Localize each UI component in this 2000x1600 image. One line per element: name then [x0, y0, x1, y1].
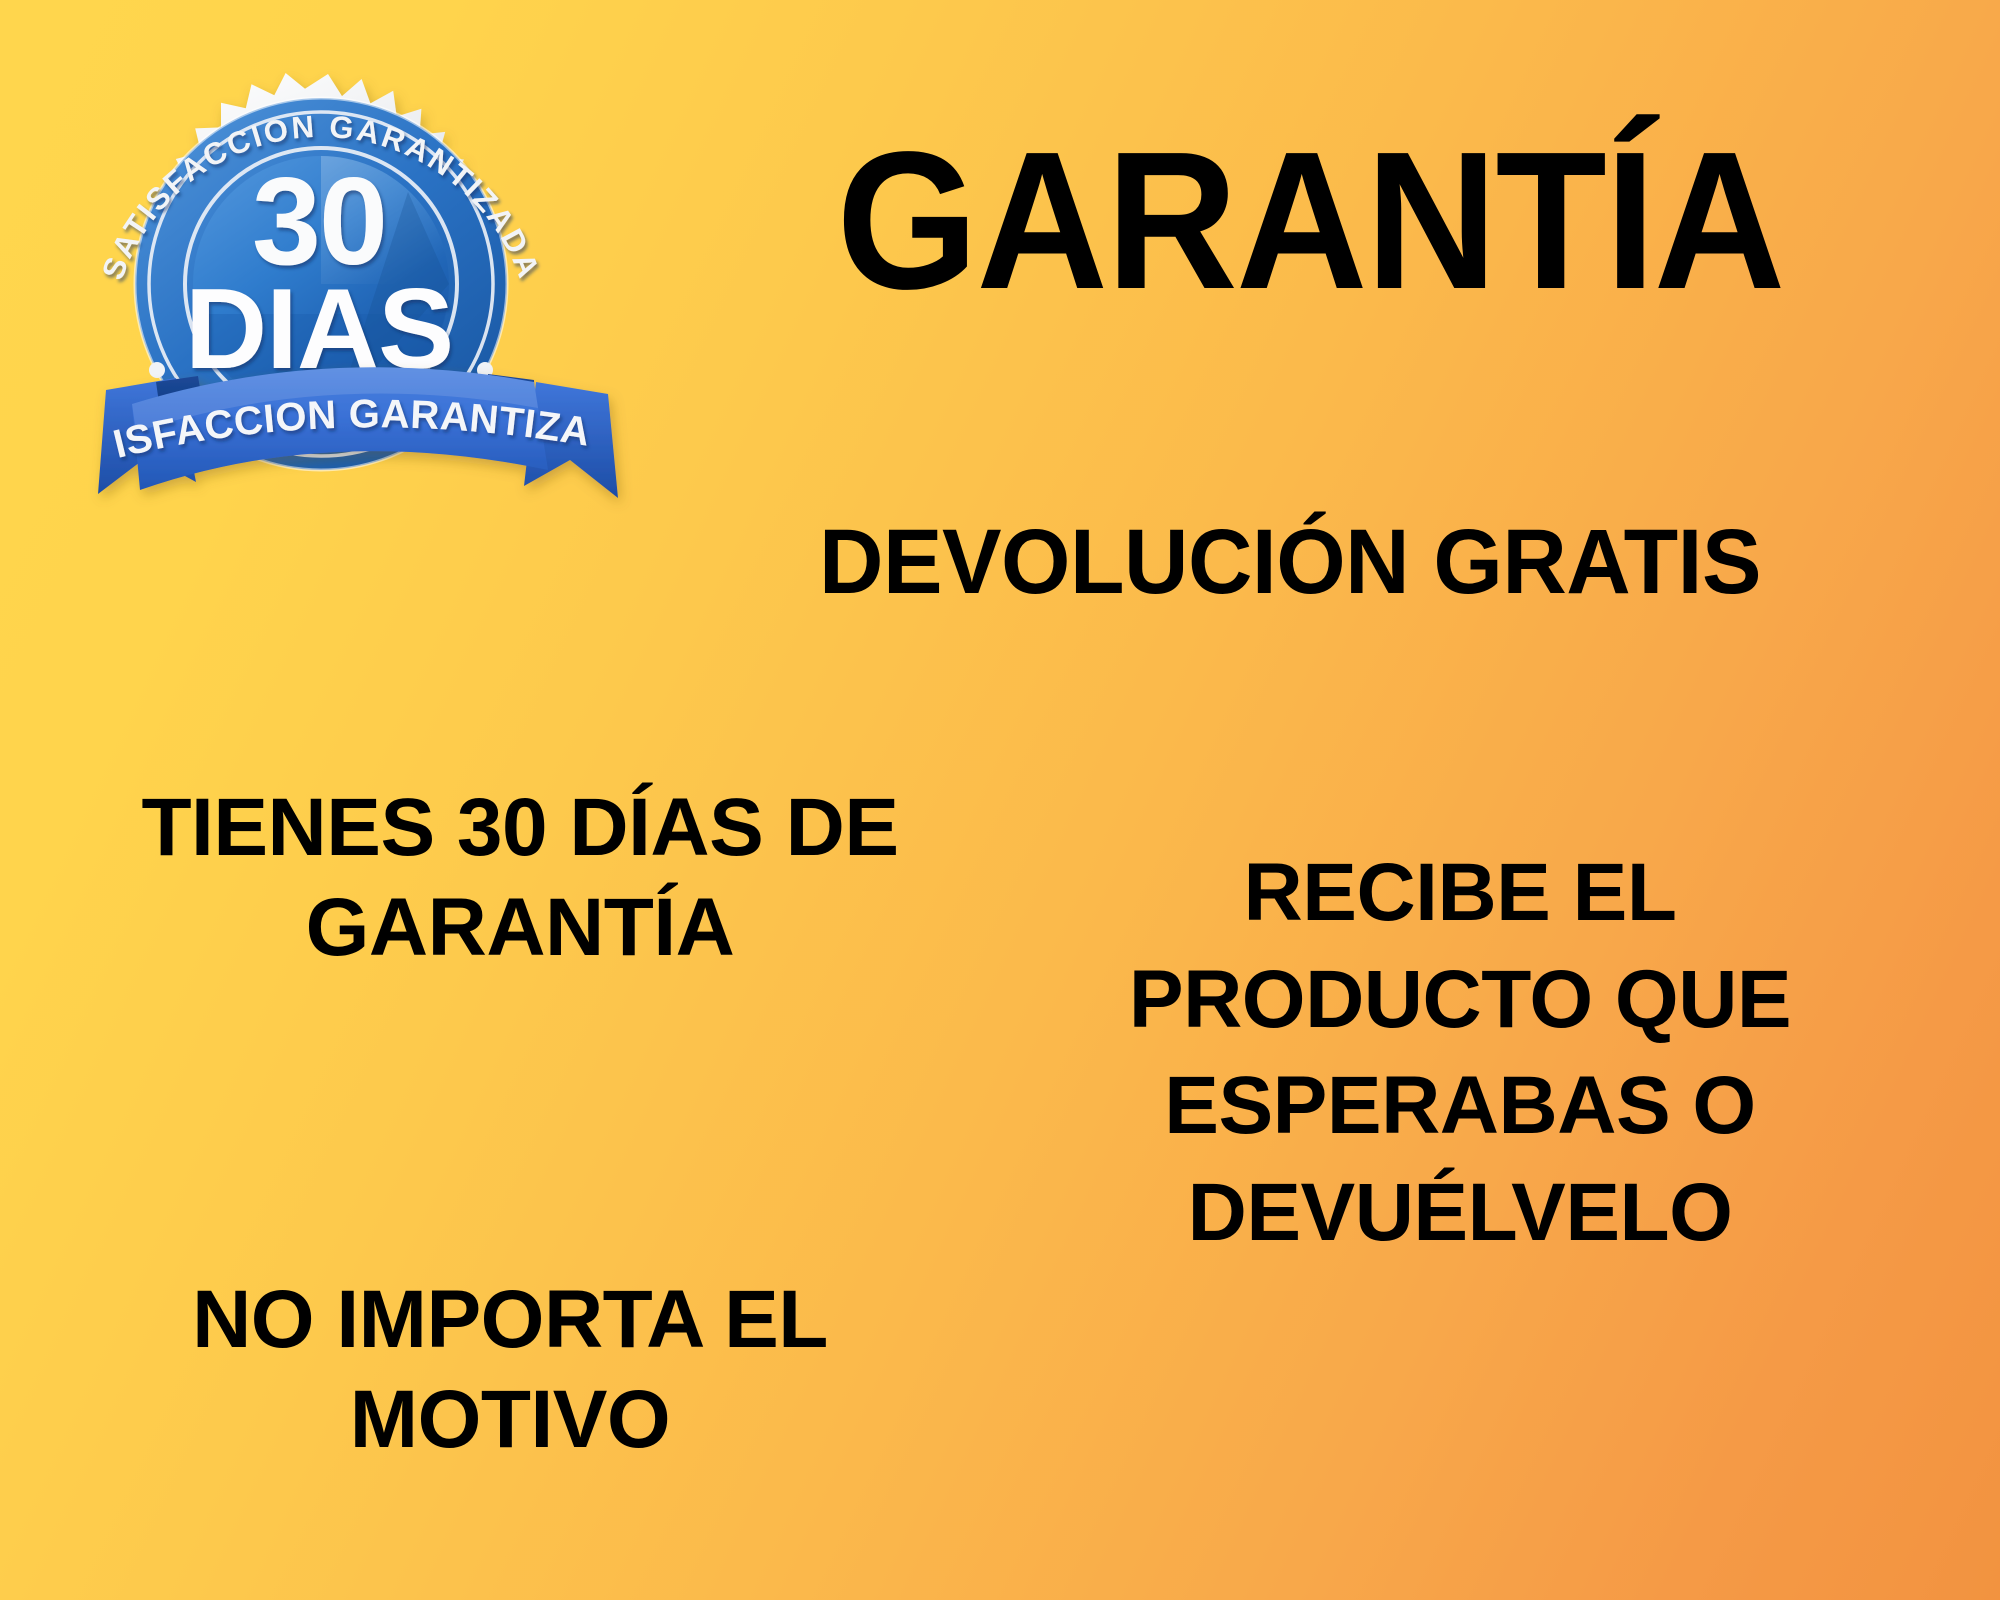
copy-line: ESPERABAS O: [1010, 1053, 1910, 1160]
guarantee-poster: SATISFACCION GARANTIZADA 30 DIAS: [0, 0, 2000, 1600]
page-title: GARANTÍA: [706, 128, 1915, 314]
copy-line: RECIBE EL: [1010, 840, 1910, 947]
seal-dot-left: [149, 362, 165, 378]
copy-block-no-reason-needed: NO IMPORTA EL MOTIVO: [50, 1270, 970, 1470]
copy-line: PRODUCTO QUE: [1010, 947, 1910, 1054]
copy-block-receive-or-return: RECIBE EL PRODUCTO QUE ESPERABAS O DEVUÉ…: [1010, 840, 1910, 1266]
copy-line: TIENES 30 DÍAS DE: [60, 778, 980, 878]
copy-block-days-guarantee: TIENES 30 DÍAS DE GARANTÍA: [60, 778, 980, 978]
copy-line: NO IMPORTA EL: [50, 1270, 970, 1370]
copy-line: MOTIVO: [50, 1370, 970, 1470]
satisfaction-guarantee-seal: SATISFACCION GARANTIZADA 30 DIAS: [36, 52, 656, 522]
page-subtitle: DEVOLUCIÓN GRATIS: [640, 516, 1940, 608]
copy-line: DEVUÉLVELO: [1010, 1160, 1910, 1267]
copy-line: GARANTÍA: [60, 878, 980, 978]
